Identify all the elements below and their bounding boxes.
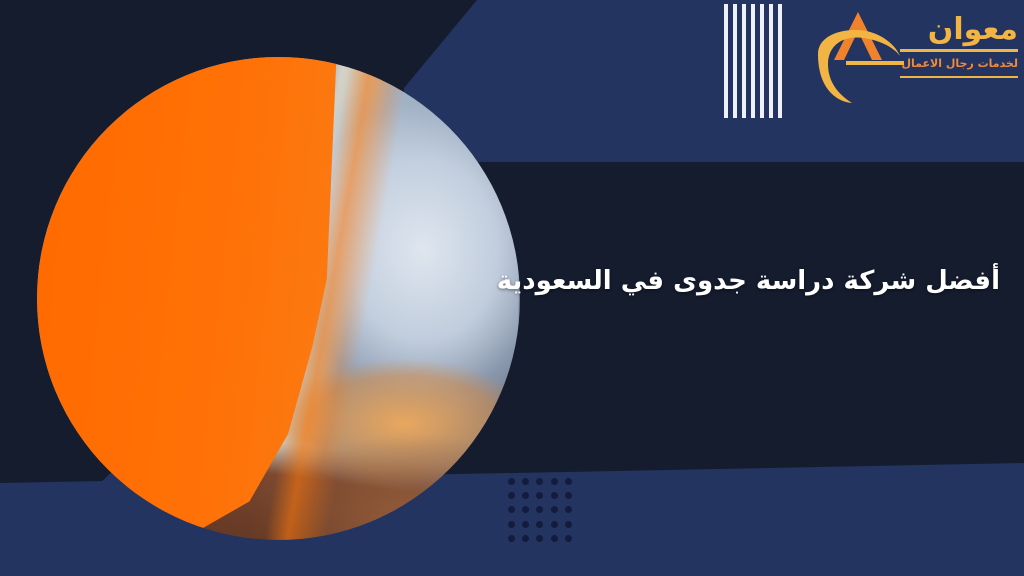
stripe-bar [733, 4, 737, 118]
grid-dot [522, 506, 529, 513]
grid-dot [508, 492, 515, 499]
grid-dot [536, 506, 543, 513]
stripe-bar [751, 4, 755, 118]
grid-dot [565, 492, 572, 499]
grid-dot [522, 478, 529, 485]
grid-dot [522, 535, 529, 542]
grid-dot [536, 535, 543, 542]
stripe-bar [778, 4, 782, 118]
logo-brand-name: معوان [900, 14, 1018, 46]
promo-banner: أفضل شركة دراسة جدوى في السعودية معوان ل… [0, 0, 1024, 576]
stripe-bar [742, 4, 746, 118]
grid-dot [536, 478, 543, 485]
grid-dot [565, 521, 572, 528]
grid-dot [508, 478, 515, 485]
dot-grid-icon [504, 474, 576, 546]
grid-dot [551, 492, 558, 499]
grid-dot [551, 506, 558, 513]
stripe-bar [724, 4, 728, 118]
headline-text: أفضل شركة دراسة جدوى في السعودية [400, 264, 1000, 299]
grid-dot [536, 521, 543, 528]
logo-divider-top [900, 49, 1018, 52]
grid-dot [565, 506, 572, 513]
grid-dot [565, 535, 572, 542]
logo-tagline: لخدمات رجال الاعمال [900, 57, 1018, 70]
grid-dot [551, 478, 558, 485]
grid-dot [522, 521, 529, 528]
grid-dot [522, 492, 529, 499]
stripe-bar [769, 4, 773, 118]
grid-dot [508, 521, 515, 528]
logo-divider-bottom [900, 76, 1018, 78]
grid-dot [508, 535, 515, 542]
grid-dot [551, 521, 558, 528]
brand-logo[interactable]: معوان لخدمات رجال الاعمال [812, 6, 1018, 106]
logo-wordmark: معوان لخدمات رجال الاعمال [900, 14, 1018, 78]
grid-dot [536, 492, 543, 499]
grid-dot [565, 478, 572, 485]
stripe-bar [760, 4, 764, 118]
vertical-stripes-icon [724, 4, 782, 118]
grid-dot [508, 506, 515, 513]
peak-arch-monogram-icon [812, 8, 904, 104]
grid-dot [551, 535, 558, 542]
